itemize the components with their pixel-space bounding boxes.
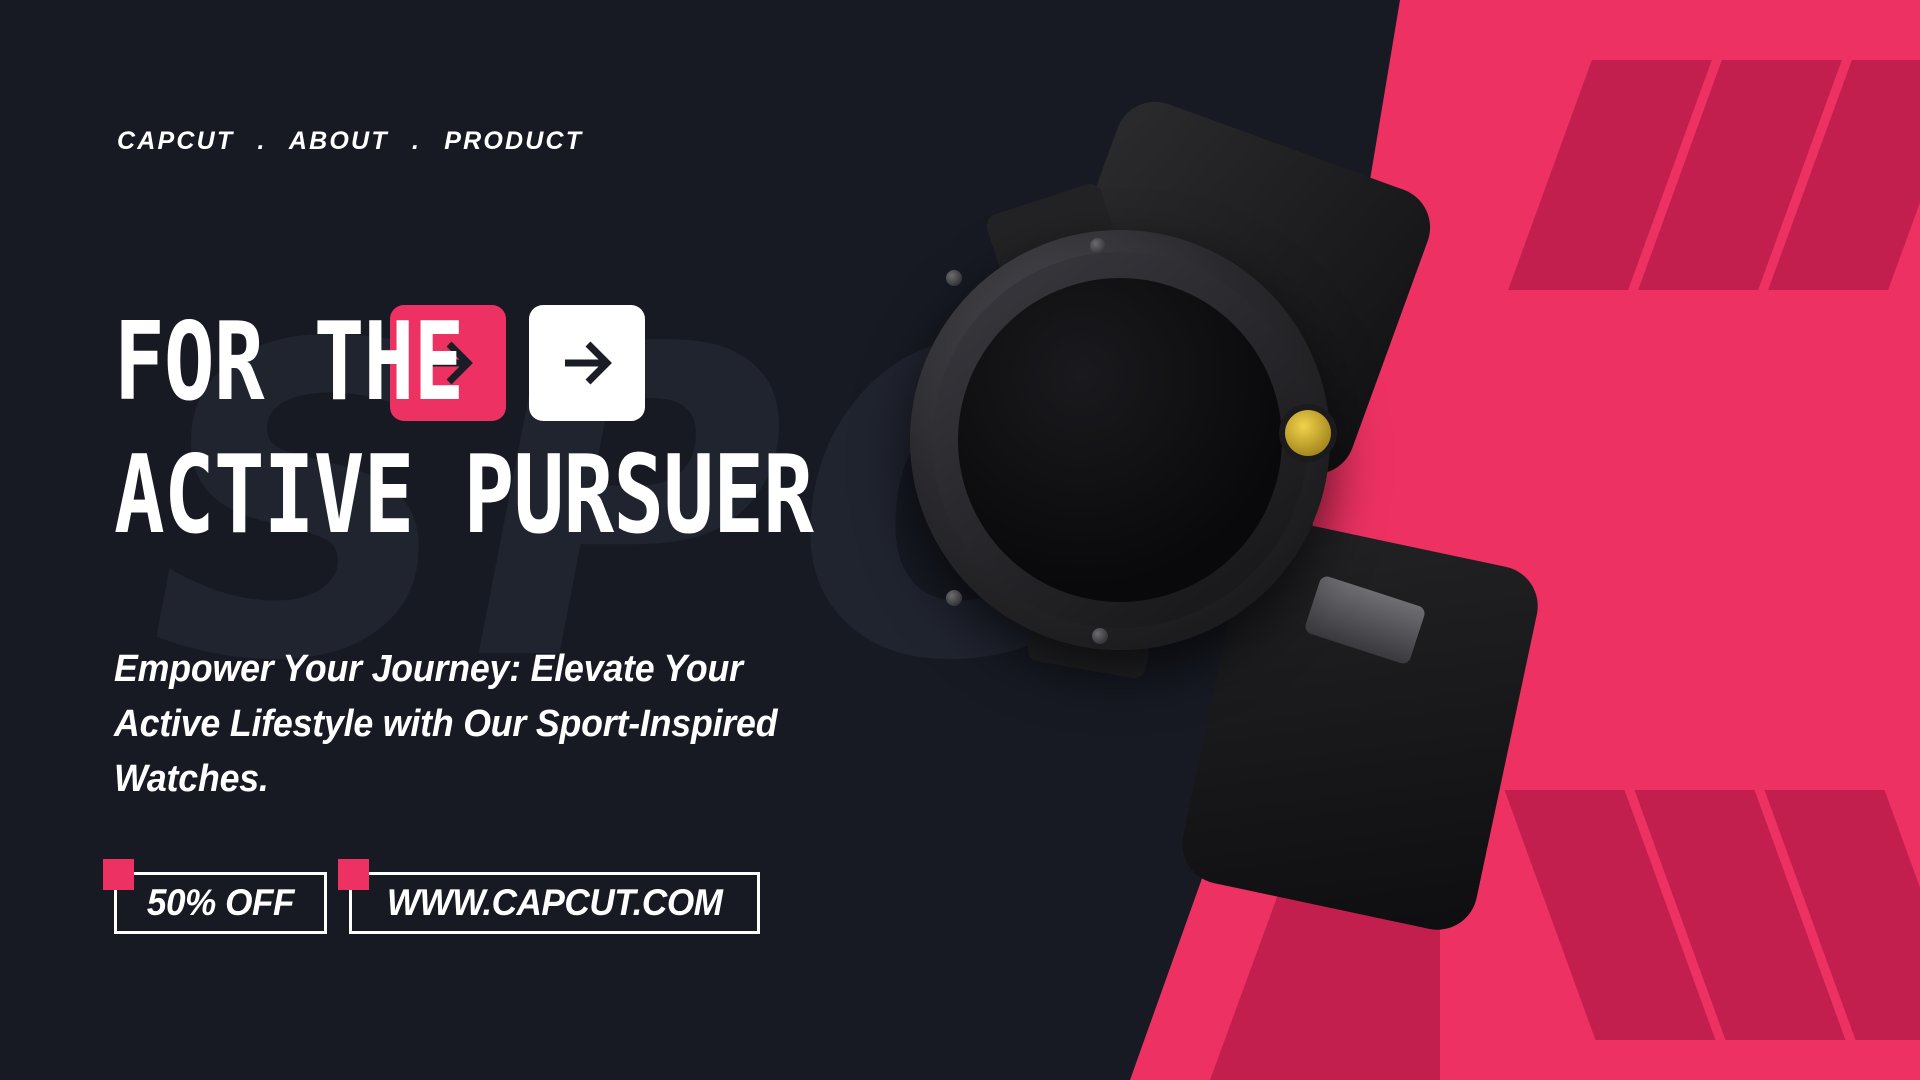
badge-corner-square: [103, 859, 134, 890]
headline-line-2: ACTIVE PURSUER: [114, 443, 855, 549]
badge-row: 50% OFF WWW.CAPCUT.COM: [114, 872, 760, 934]
discount-badge-label: 50% OFF: [147, 882, 294, 924]
website-badge-label: WWW.CAPCUT.COM: [387, 882, 723, 924]
nav-item-product[interactable]: PRODUCT: [444, 127, 583, 155]
website-badge[interactable]: WWW.CAPCUT.COM: [349, 872, 760, 934]
arrow-right-icon: [555, 331, 619, 395]
nav-separator: .: [398, 127, 435, 155]
nav-item-capcut[interactable]: CAPCUT: [117, 127, 234, 155]
hero-headline: FOR THE: [114, 305, 1064, 549]
content-column: CAPCUT . ABOUT . PRODUCT FOR THE: [0, 0, 1100, 1080]
hero-body-text: Empower Your Journey: Elevate Your Activ…: [114, 642, 791, 807]
discount-badge[interactable]: 50% OFF: [114, 872, 327, 934]
headline-line-1: FOR THE: [114, 310, 464, 416]
top-navigation: CAPCUT . ABOUT . PRODUCT: [117, 127, 583, 156]
badge-corner-square: [338, 859, 369, 890]
nav-item-about[interactable]: ABOUT: [289, 127, 389, 155]
watch-crown: [1285, 410, 1331, 456]
arrow-right-secondary-button[interactable]: [529, 305, 645, 421]
nav-separator: .: [244, 127, 281, 155]
promo-banner: SPO CAPCUT . ABOUT . PRODUCT FOR THE: [0, 0, 1920, 1080]
